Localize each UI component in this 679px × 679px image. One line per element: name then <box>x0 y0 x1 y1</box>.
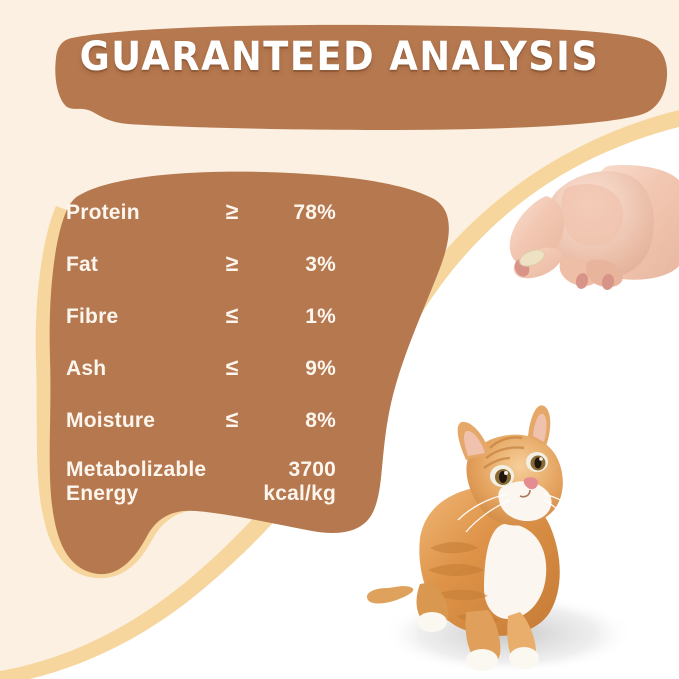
comparison-symbol: ≥ <box>206 250 258 277</box>
energy-unit: kcal/kg <box>258 482 336 506</box>
comparison-symbol: ≥ <box>206 198 258 225</box>
table-row: Protein ≥ 78% <box>66 198 336 250</box>
table-row: Moisture ≤ 8% <box>66 406 336 458</box>
nutrient-label: Fibre <box>66 305 206 329</box>
nutrient-label: Fat <box>66 253 206 277</box>
nutrient-label: Protein <box>66 201 206 225</box>
table-row: Fibre ≤ 1% <box>66 302 336 354</box>
comparison-symbol: ≤ <box>206 406 258 433</box>
nutrient-label: Metabolizable Energy <box>66 458 206 505</box>
nutrient-label: Moisture <box>66 409 206 433</box>
nutrient-value: 8% <box>258 409 336 433</box>
nutrient-value: 1% <box>258 305 336 329</box>
guaranteed-analysis-table: Protein ≥ 78% Fat ≥ 3% Fibre ≤ 1% Ash ≤ … <box>66 198 336 520</box>
comparison-symbol: ≤ <box>206 302 258 329</box>
table-row: Ash ≤ 9% <box>66 354 336 406</box>
nutrient-label: Ash <box>66 357 206 381</box>
energy-number: 3700 <box>288 458 336 481</box>
header-banner-shape <box>55 25 667 130</box>
table-row: Metabolizable Energy 3700 kcal/kg <box>66 458 336 520</box>
nutrient-value: 78% <box>258 201 336 225</box>
nutrient-value: 3700 kcal/kg <box>258 458 336 505</box>
table-row: Fat ≥ 3% <box>66 250 336 302</box>
nutrient-value: 9% <box>258 357 336 381</box>
comparison-symbol: ≤ <box>206 354 258 381</box>
nutrient-value: 3% <box>258 253 336 277</box>
guaranteed-analysis-infographic: GUARANTEED ANALYSIS Protein ≥ 78% Fat ≥ … <box>0 0 679 679</box>
